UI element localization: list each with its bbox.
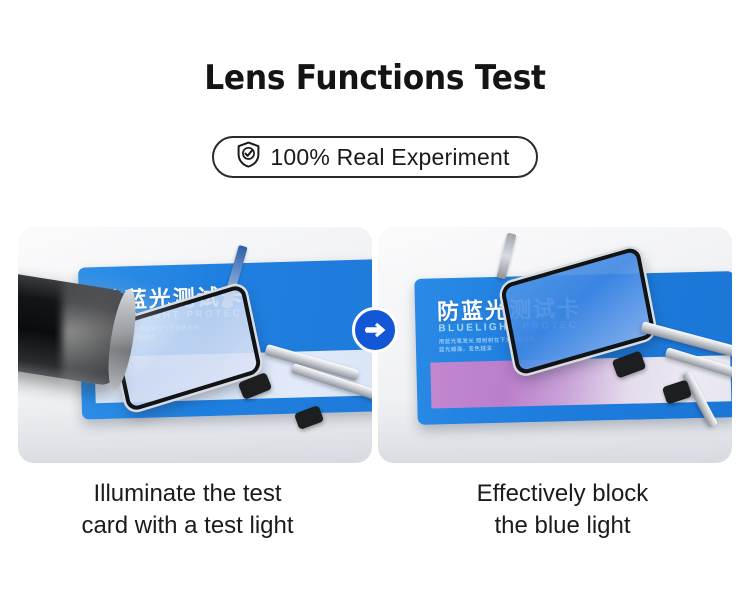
glasses-rim-lower [682,371,718,428]
arrow-right-icon [352,307,398,353]
glasses-nose-pad-secondary [294,405,324,430]
eyeglasses-after [378,227,732,463]
badge-label: 100% Real Experiment [270,146,509,169]
shield-check-icon [236,141,261,173]
real-experiment-badge: 100% Real Experiment [212,136,537,178]
captions-row: Illuminate the test card with a test lig… [0,478,750,542]
glasses-bridge-arm [497,233,517,280]
photo-panel-after: 防蓝光测试卡 BLUELIGHT PROTEC 用蓝光笔发光 照射射在下方白色方… [378,227,732,463]
badge-container: 100% Real Experiment [0,136,750,178]
glasses-nose-pad-secondary [662,379,692,404]
caption-before: Illuminate the test card with a test lig… [0,478,375,542]
page-title: Lens Functions Test [30,58,720,98]
glasses-nose-pad [612,350,647,378]
photo-panel-before: 防蓝光测试卡 BLUELIGHT PROTEC 用蓝光笔发光 照射射在下方白色方… [18,227,372,463]
comparison-row: 防蓝光测试卡 BLUELIGHT PROTEC 用蓝光笔发光 照射射在下方白色方… [0,227,750,463]
caption-after: Effectively block the blue light [375,478,750,542]
